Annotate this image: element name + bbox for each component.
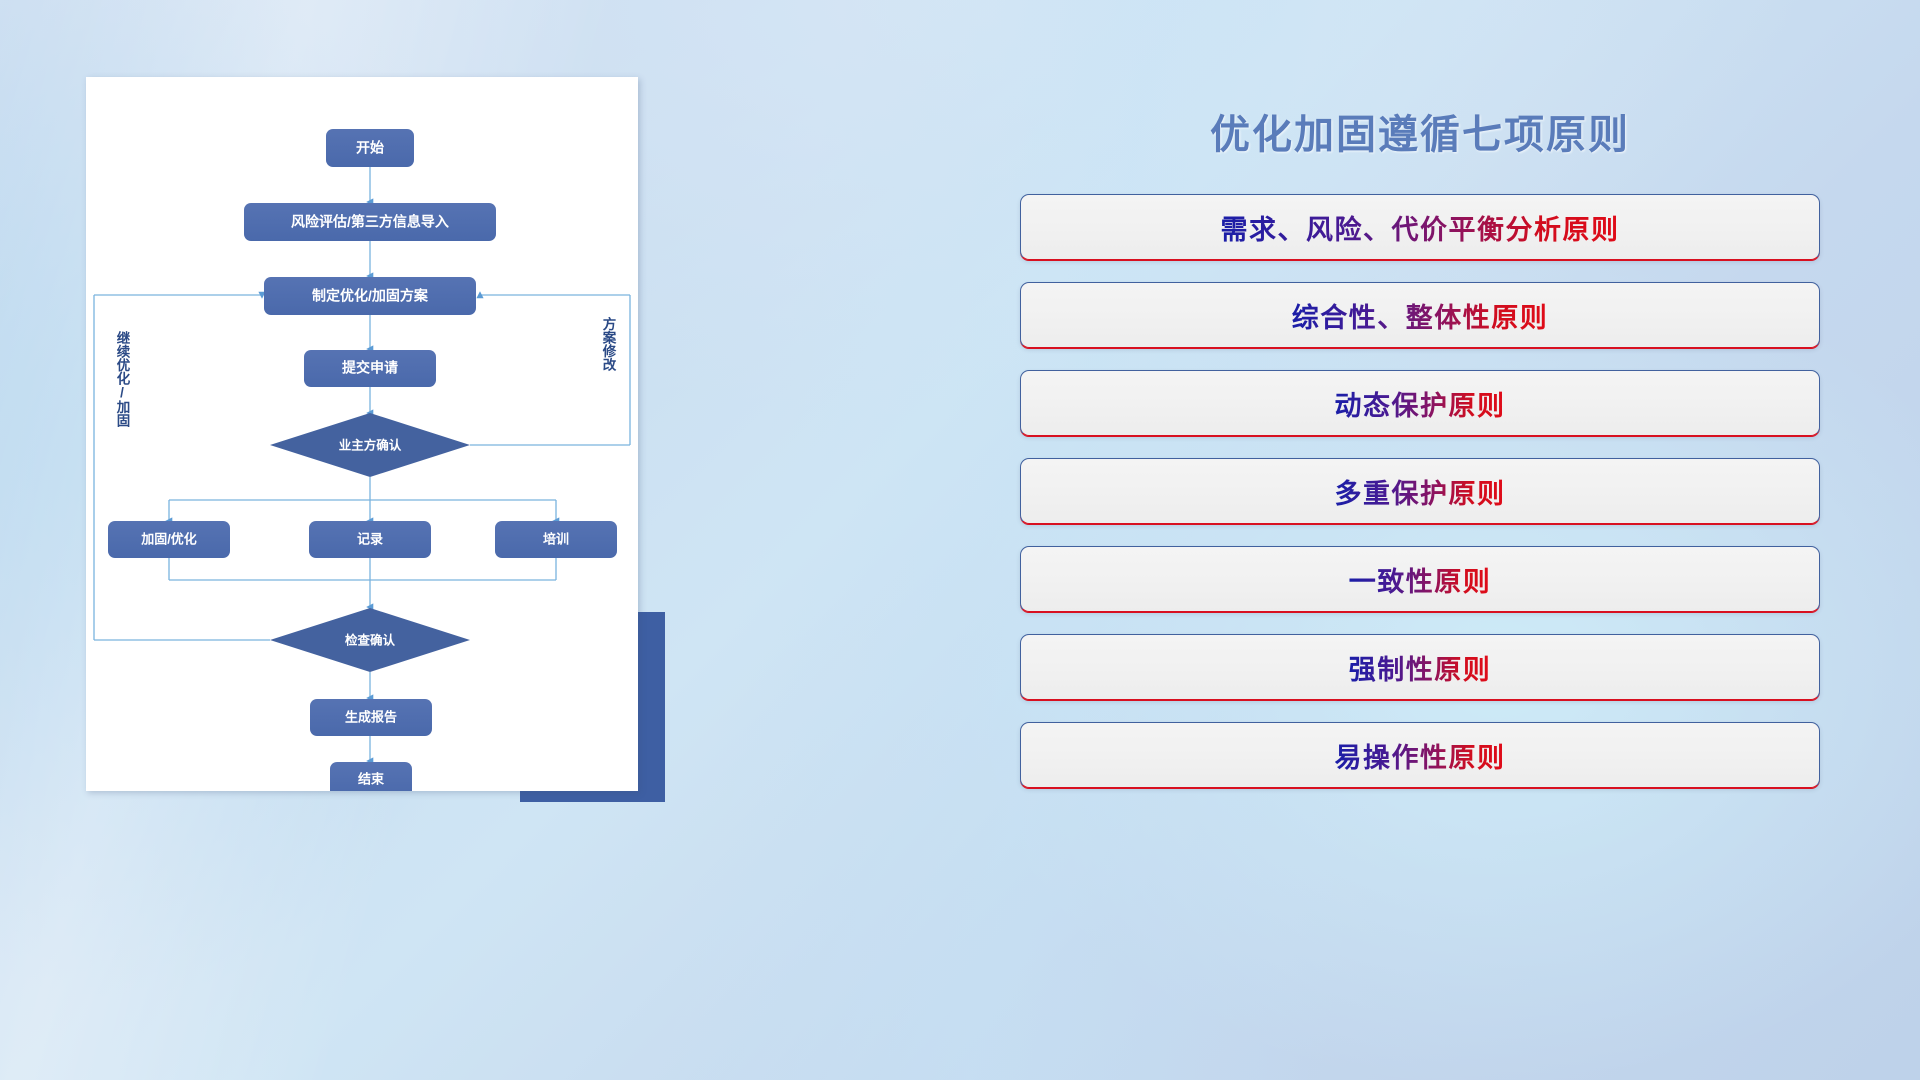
principle-item-6-label: 强制性原则: [1349, 648, 1492, 687]
flow-node-end[interactable]: 结束: [330, 762, 412, 791]
flow-node-risk-assessment-label: 风险评估/第三方信息导入: [291, 214, 449, 230]
principle-item-5[interactable]: 一致性原则: [1020, 546, 1820, 612]
flowchart-diagram: 开始 风险评估/第三方信息导入 制定优化/加固方案 提交申请 业主方确认: [86, 77, 638, 791]
principle-item-7[interactable]: 易操作性原则: [1020, 722, 1820, 788]
principle-item-3-label: 动态保护原则: [1335, 384, 1506, 423]
flow-node-reinforce-optimize-label: 加固/优化: [140, 531, 197, 546]
principle-item-4[interactable]: 多重保护原则: [1020, 458, 1820, 524]
principle-item-2[interactable]: 综合性、整体性原则: [1020, 282, 1820, 348]
flow-node-submit-application-label: 提交申请: [342, 360, 398, 376]
flow-node-generate-report[interactable]: 生成报告: [310, 699, 432, 736]
flow-node-training-label: 培训: [543, 531, 569, 546]
flow-node-owner-confirm[interactable]: 业主方确认: [270, 413, 470, 477]
principle-item-7-label: 易操作性原则: [1335, 736, 1506, 775]
principle-item-4-label: 多重保护原则: [1335, 472, 1506, 511]
principles-list: 需求、风险、代价平衡分析原则 综合性、整体性原则 动态保护原则 多重保护原则 一…: [1020, 194, 1820, 788]
flow-node-check-confirm[interactable]: 检查确认: [270, 608, 470, 672]
slide-canvas: 开始 风险评估/第三方信息导入 制定优化/加固方案 提交申请 业主方确认: [0, 0, 1920, 1080]
principle-item-1[interactable]: 需求、风险、代价平衡分析原则: [1020, 194, 1820, 260]
principle-item-2-label: 综合性、整体性原则: [1292, 296, 1549, 335]
flow-node-make-plan[interactable]: 制定优化/加固方案: [264, 277, 476, 315]
flow-node-check-confirm-label: 检查确认: [345, 632, 396, 647]
flow-edge-label-plan-revision: 方案修改: [601, 316, 618, 373]
principles-panel: 优化加固遵循七项原则 需求、风险、代价平衡分析原则 综合性、整体性原则 动态保护…: [1020, 80, 1820, 810]
flow-node-submit-application[interactable]: 提交申请: [304, 350, 436, 387]
flow-node-risk-assessment[interactable]: 风险评估/第三方信息导入: [244, 203, 496, 241]
flow-node-end-label: 结束: [358, 771, 385, 786]
flow-node-training[interactable]: 培训: [495, 521, 617, 558]
principle-item-3[interactable]: 动态保护原则: [1020, 370, 1820, 436]
flow-node-start-label: 开始: [356, 140, 384, 156]
panel-title: 优化加固遵循七项原则: [1020, 102, 1820, 160]
flow-node-owner-confirm-label: 业主方确认: [339, 437, 402, 452]
flowchart-card: 开始 风险评估/第三方信息导入 制定优化/加固方案 提交申请 业主方确认: [86, 77, 638, 791]
principle-item-6[interactable]: 强制性原则: [1020, 634, 1820, 700]
principle-item-1-label: 需求、风险、代价平衡分析原则: [1221, 208, 1620, 247]
flow-node-record-label: 记录: [357, 531, 383, 546]
flow-node-record[interactable]: 记录: [309, 521, 431, 558]
flow-node-generate-report-label: 生成报告: [345, 709, 397, 724]
flow-node-reinforce-optimize[interactable]: 加固/优化: [108, 521, 230, 558]
principle-item-5-label: 一致性原则: [1349, 560, 1492, 599]
flow-node-start[interactable]: 开始: [326, 129, 414, 167]
flow-node-make-plan-label: 制定优化/加固方案: [312, 288, 429, 304]
flow-edge-label-continue-optimize: 继续优化/加固: [115, 330, 132, 429]
